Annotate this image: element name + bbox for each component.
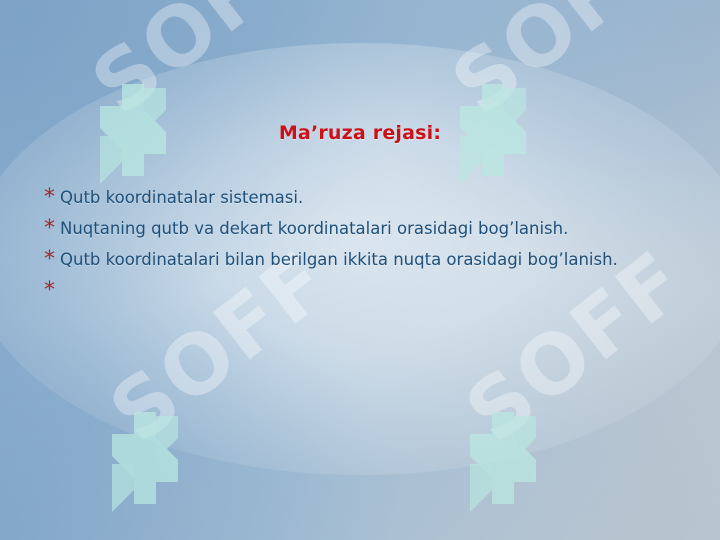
presentation-slide: SOFFSOFFSOFFSOFF Ma’ruza rejasi: *Qutb k…: [0, 0, 720, 540]
bullet-item: *Nuqtaning qutb va dekart koordinatalari…: [44, 217, 694, 240]
slide-title: Ma’ruza rejasi:: [0, 122, 720, 144]
bullet-item-label: [60, 279, 694, 302]
soff-logo-mark-icon: [108, 412, 182, 520]
watermark-text: SOFF: [75, 0, 330, 134]
bullet-item-label: Qutb koordinatalar sistemasi.: [60, 186, 694, 209]
asterisk-bullet-icon: *: [44, 279, 60, 302]
asterisk-bullet-icon: *: [44, 186, 60, 209]
bullet-item: *Qutb koordinatalari bilan berilgan ikki…: [44, 248, 694, 271]
bullet-item: *: [44, 279, 694, 302]
bullet-list: *Qutb koordinatalar sistemasi.*Nuqtaning…: [44, 186, 694, 310]
asterisk-bullet-icon: *: [44, 217, 60, 240]
bullet-item-label: Nuqtaning qutb va dekart koordinatalari …: [60, 217, 694, 240]
bullet-item: *Qutb koordinatalar sistemasi.: [44, 186, 694, 209]
bullet-item-label: Qutb koordinatalari bilan berilgan ikkit…: [60, 248, 694, 271]
soff-logo-mark-icon: [466, 412, 540, 520]
watermark-text: SOFF: [435, 0, 690, 134]
asterisk-bullet-icon: *: [44, 248, 60, 271]
